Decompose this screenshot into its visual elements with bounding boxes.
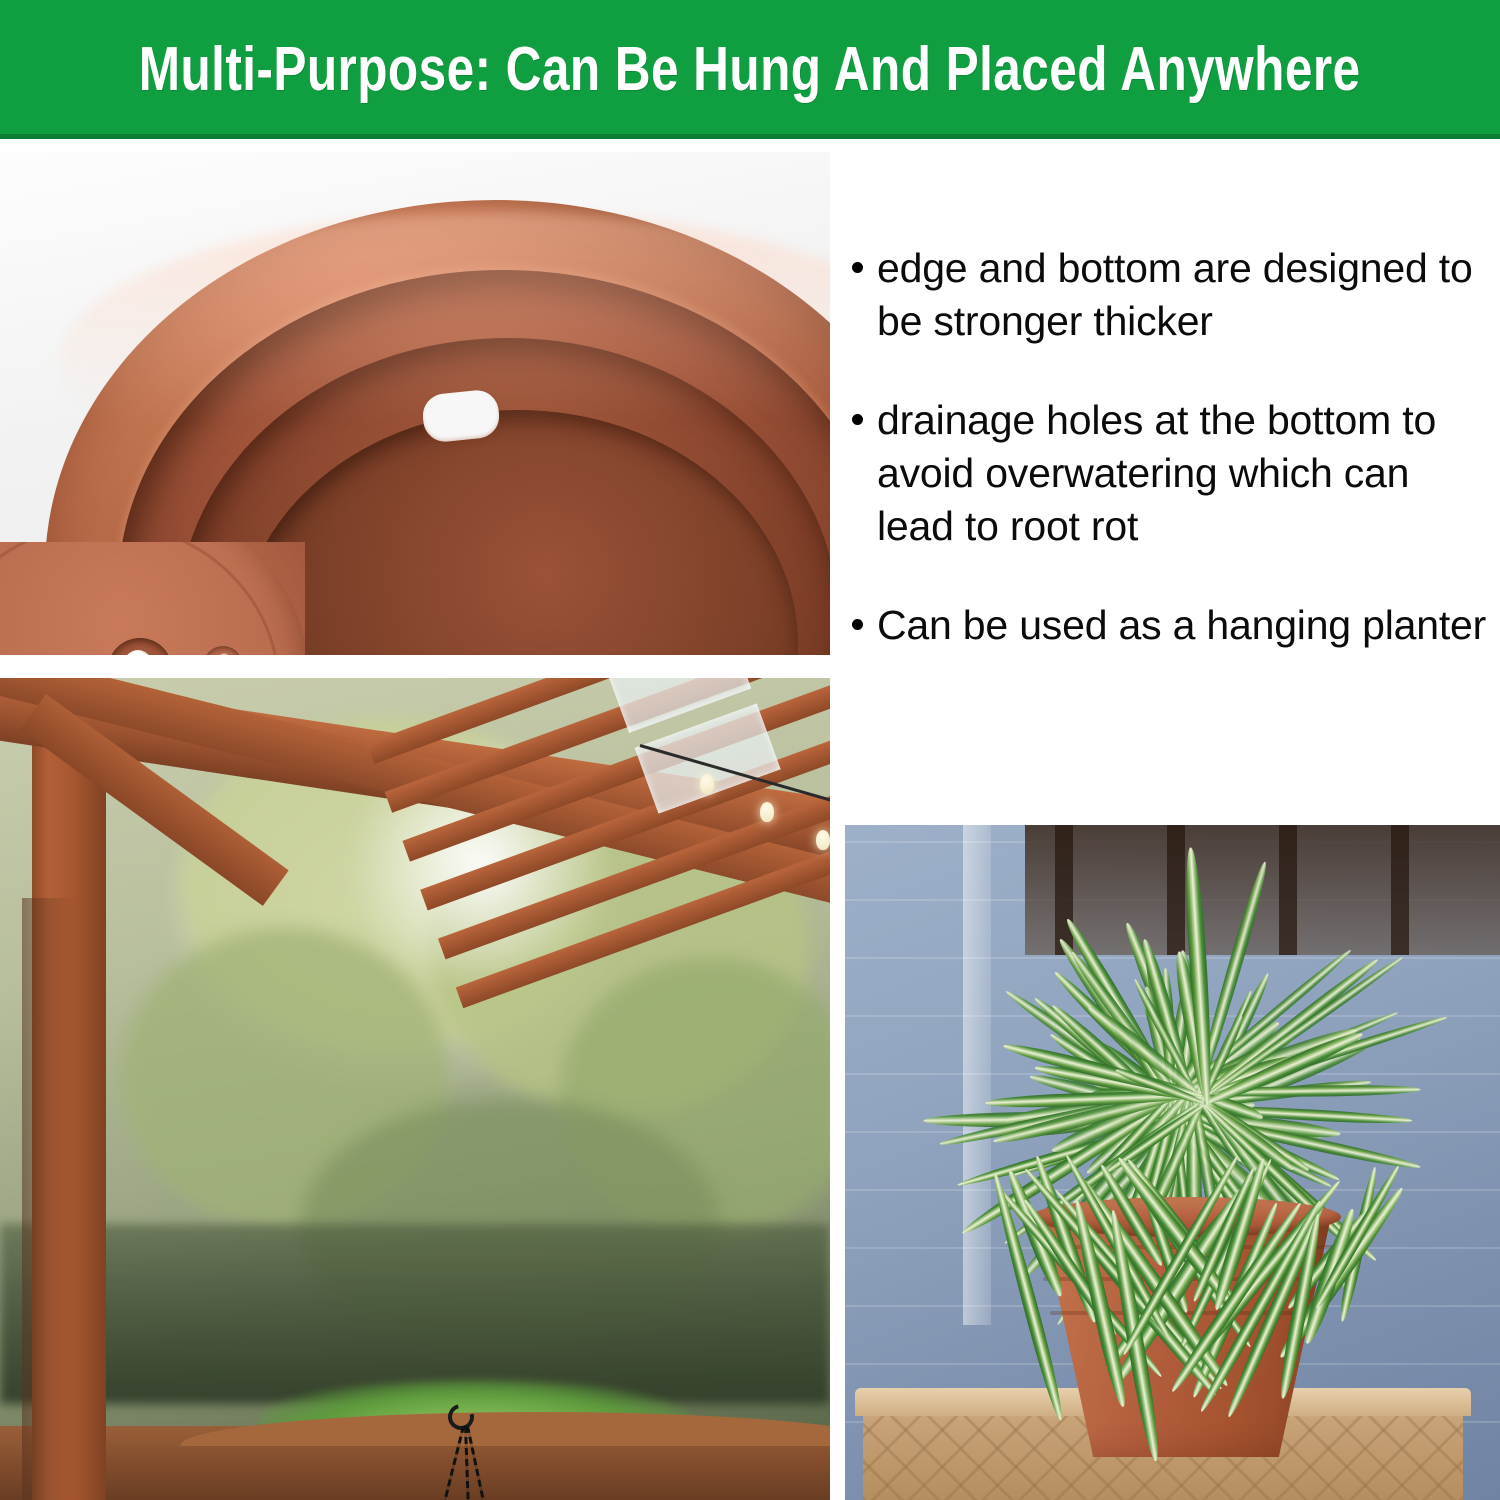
- product-image-hanging-planter: [0, 678, 830, 1500]
- bullet-text: drainage holes at the bottom to avoid ov…: [877, 394, 1492, 553]
- string-light-bulb: [700, 774, 714, 794]
- list-item: Can be used as a hanging planter: [852, 599, 1492, 652]
- string-light-bulb: [816, 830, 830, 850]
- list-item: edge and bottom are designed to be stron…: [852, 242, 1492, 348]
- bullet-text: Can be used as a hanging planter: [877, 599, 1486, 652]
- header-underline: [0, 134, 1500, 139]
- bullet-dot-icon: [852, 414, 863, 425]
- product-image-rim-closeup: DP-20 MADE IN CHINA: [0, 152, 830, 655]
- string-light-bulb: [760, 802, 774, 822]
- planted-flowers: [0, 678, 830, 1500]
- bullet-dot-icon: [852, 619, 863, 630]
- spider-plant-front-blades: [845, 825, 1500, 1500]
- list-item: drainage holes at the bottom to avoid ov…: [852, 394, 1492, 553]
- feature-bullet-list: edge and bottom are designed to be stron…: [852, 242, 1492, 698]
- bullet-dot-icon: [852, 262, 863, 273]
- header-banner: Multi-Purpose: Can Be Hung And Placed An…: [0, 0, 1500, 139]
- bullet-text: edge and bottom are designed to be stron…: [877, 242, 1492, 348]
- page-title: Multi-Purpose: Can Be Hung And Placed An…: [139, 34, 1361, 105]
- plant-blade-front: [1311, 1163, 1402, 1311]
- product-image-potted-spider-plant: [845, 825, 1500, 1500]
- inset-pot-bottom-detail: DP-20 MADE IN CHINA: [0, 542, 305, 655]
